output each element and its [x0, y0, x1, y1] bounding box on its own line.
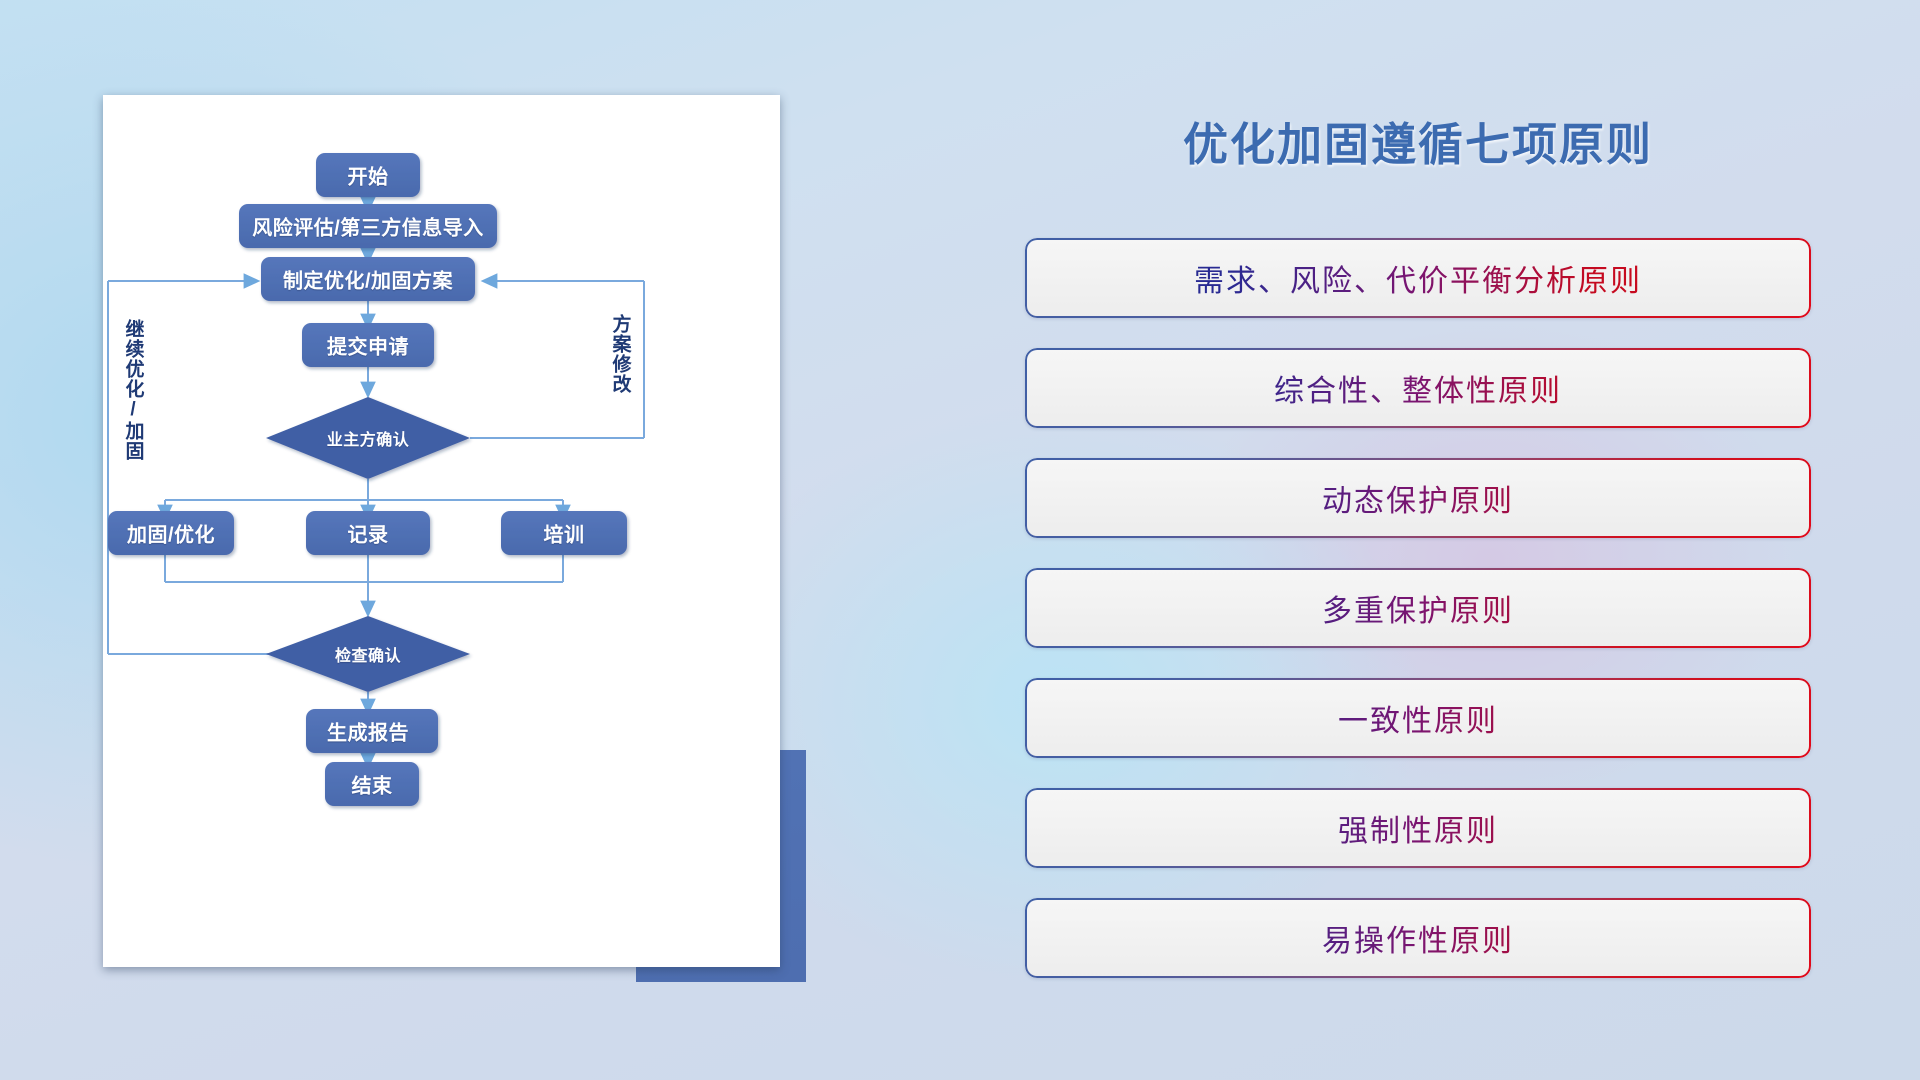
flow-node-inspection-confirm[interactable]: 检查确认 [335, 642, 401, 666]
principle-item-6[interactable]: 强制性原则 [1025, 788, 1811, 868]
principles-title: 优化加固遵循七项原则 [1025, 108, 1811, 173]
flow-node-training[interactable]: 培训 [544, 519, 585, 548]
principle-label-5: 一致性原则 [1025, 678, 1811, 758]
flow-node-submit-application[interactable]: 提交申请 [327, 331, 409, 360]
flow-edge-label-plan-revision: 方案修改 [611, 314, 630, 394]
flow-node-make-plan[interactable]: 制定优化/加固方案 [283, 265, 453, 294]
principle-item-7[interactable]: 易操作性原则 [1025, 898, 1811, 978]
flow-node-start[interactable]: 开始 [348, 161, 389, 190]
principle-label-7: 易操作性原则 [1025, 898, 1811, 978]
flow-node-reinforce-optimize[interactable]: 加固/优化 [127, 519, 215, 548]
principle-item-1[interactable]: 需求、风险、代价平衡分析原则 [1025, 238, 1811, 318]
principle-label-3: 动态保护原则 [1025, 458, 1811, 538]
principle-item-4[interactable]: 多重保护原则 [1025, 568, 1811, 648]
principle-label-2: 综合性、整体性原则 [1025, 348, 1811, 428]
flow-node-owner-confirm[interactable]: 业主方确认 [327, 426, 410, 450]
principle-item-5[interactable]: 一致性原则 [1025, 678, 1811, 758]
principle-label-4: 多重保护原则 [1025, 568, 1811, 648]
principle-item-3[interactable]: 动态保护原则 [1025, 458, 1811, 538]
slide-root: 开始 风险评估/第三方信息导入 制定优化/加固方案 提交申请 业主方确认 加固/… [0, 0, 1920, 1080]
flow-edge-label-continue-optimize: 继续优化/加固 [124, 319, 143, 461]
principle-label-1: 需求、风险、代价平衡分析原则 [1025, 238, 1811, 318]
flow-node-risk-assessment[interactable]: 风险评估/第三方信息导入 [252, 212, 484, 241]
principle-label-6: 强制性原则 [1025, 788, 1811, 868]
flowchart-card: 开始 风险评估/第三方信息导入 制定优化/加固方案 提交申请 业主方确认 加固/… [103, 95, 780, 967]
flow-node-record[interactable]: 记录 [348, 519, 389, 548]
flow-node-generate-report[interactable]: 生成报告 [327, 717, 409, 746]
principle-item-2[interactable]: 综合性、整体性原则 [1025, 348, 1811, 428]
flow-node-end[interactable]: 结束 [352, 770, 393, 799]
flowchart-canvas: 开始 风险评估/第三方信息导入 制定优化/加固方案 提交申请 业主方确认 加固/… [103, 95, 780, 967]
